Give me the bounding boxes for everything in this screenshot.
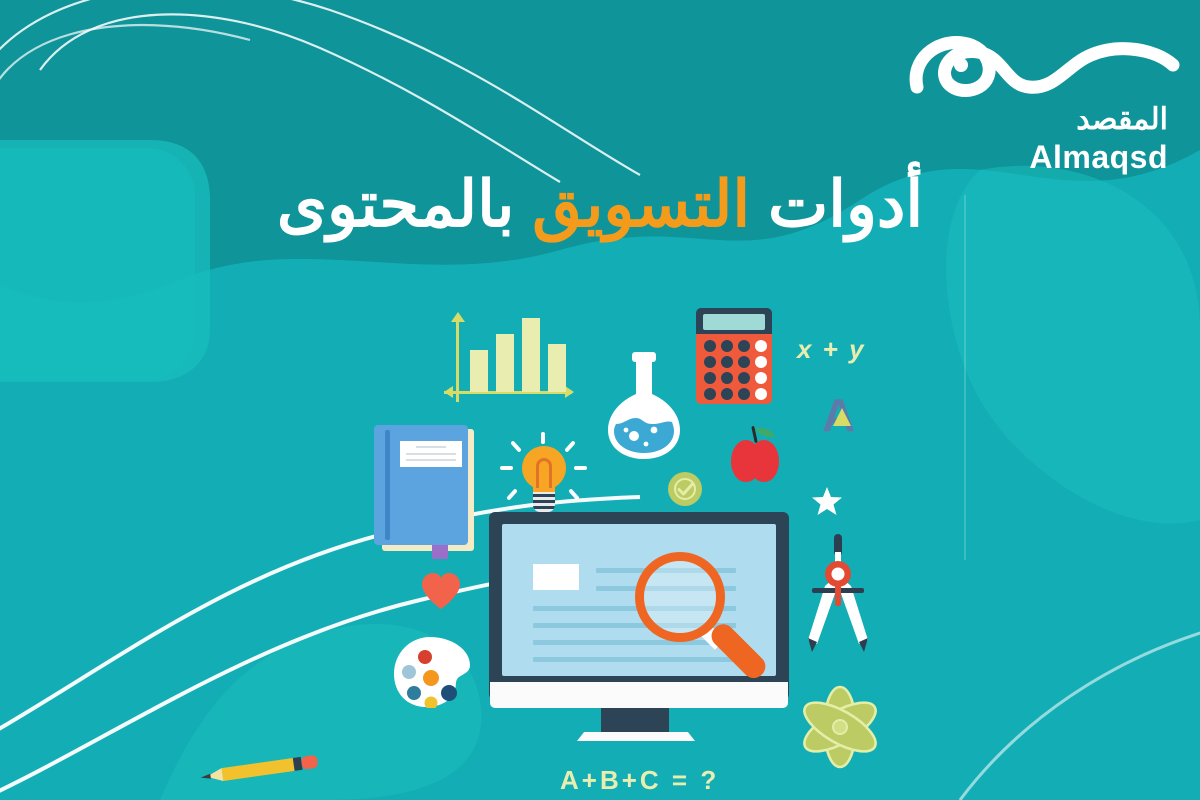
- calculator-key: [721, 356, 733, 368]
- bulb-base-stripe: [533, 506, 555, 509]
- bulb-base-stripe: [533, 500, 555, 503]
- book-icon: [374, 425, 474, 553]
- bulb-filament: [536, 458, 552, 488]
- chart-arrow-up-icon: [451, 312, 465, 322]
- magnifier-icon: [635, 552, 765, 712]
- calculator-key: [721, 340, 733, 352]
- calculator-key: [704, 340, 716, 352]
- bulb-ray: [564, 440, 576, 452]
- bulb-ray: [500, 466, 513, 470]
- flask-icon: [602, 352, 686, 460]
- monitor-foot: [577, 732, 695, 741]
- calculator-keypad: [696, 334, 772, 404]
- equation-text: A+B+C = ?: [560, 765, 719, 796]
- book-label-line: [416, 446, 446, 448]
- letter-a-triangle: [833, 408, 851, 426]
- palette-icon: [392, 636, 474, 708]
- book-label-line: [406, 453, 456, 455]
- palette-svg: [392, 636, 474, 708]
- calculator-key: [755, 372, 767, 384]
- monitor-neck: [601, 708, 669, 736]
- pencil-svg: [196, 752, 320, 786]
- algebra-text: x + y: [797, 334, 866, 365]
- logo-wave-mark-icon: [905, 25, 1180, 105]
- screen-image-block: [533, 564, 579, 590]
- magnifier-handle: [707, 620, 770, 683]
- banner-canvas: المقصد Almaqsd أدوات التسويق بالمحتوى: [0, 0, 1200, 800]
- calculator-key: [704, 372, 716, 384]
- book-label-line: [406, 459, 456, 461]
- almaqsd-logo[interactable]: المقصد Almaqsd: [905, 25, 1180, 170]
- calculator-key: [738, 340, 750, 352]
- book-spine: [385, 430, 390, 540]
- bulb-ray: [568, 488, 580, 500]
- book-cover: [374, 425, 468, 545]
- calculator-key: [704, 356, 716, 368]
- bulb-ray: [574, 466, 587, 470]
- calculator-key: [755, 388, 767, 400]
- flask-svg: [602, 352, 686, 460]
- chart-bar: [470, 350, 488, 392]
- chart-arrow-right-icon: [565, 386, 574, 398]
- book-bookmark: [432, 543, 448, 559]
- book-label: [400, 441, 462, 467]
- bulb-ray: [510, 440, 522, 452]
- chart-arrow-left-icon: [444, 386, 453, 398]
- apple-icon: [728, 424, 782, 484]
- check-mark-icon: [668, 472, 702, 506]
- chart-bar: [522, 318, 540, 392]
- atom-icon: [797, 684, 883, 770]
- calculator-display: [703, 314, 765, 330]
- calculator-key: [738, 388, 750, 400]
- bulb-base-stripe: [533, 494, 555, 497]
- heart-svg: [421, 572, 461, 610]
- calculator-key: [721, 372, 733, 384]
- calculator-key: [738, 372, 750, 384]
- heart-icon: [421, 572, 461, 610]
- bar-chart-icon: [444, 312, 574, 406]
- headline-part-accent: التسويق: [532, 168, 750, 240]
- page-title: أدوات التسويق بالمحتوى: [0, 168, 1200, 242]
- logo-arabic-name: المقصد: [1076, 105, 1168, 135]
- atom-svg: [797, 684, 883, 770]
- magnifier-lens: [635, 552, 725, 642]
- bulb-base: [533, 492, 555, 512]
- apple-body-right: [749, 440, 779, 482]
- chart-bar: [548, 344, 566, 392]
- check-badge-icon: [668, 472, 702, 506]
- compass-svg: [803, 534, 873, 652]
- chart-axis-vertical: [456, 316, 459, 402]
- calculator-top: [696, 308, 772, 336]
- star-icon: [812, 486, 842, 516]
- calculator-key: [704, 388, 716, 400]
- apple-leaf: [756, 426, 774, 439]
- calculator-key: [755, 356, 767, 368]
- calculator-icon: [696, 308, 772, 404]
- calculator-key: [721, 388, 733, 400]
- bulb-ray: [541, 432, 545, 444]
- chart-bar: [496, 334, 514, 392]
- calculator-key: [755, 340, 767, 352]
- headline-part-3: بالمحتوى: [277, 168, 515, 240]
- bulb-ray: [506, 488, 518, 500]
- calculator-key: [738, 356, 750, 368]
- letter-a-icon: A: [822, 392, 862, 440]
- headline-part-1: أدوات: [768, 168, 923, 240]
- star-svg: [812, 486, 842, 516]
- pencil-icon: [196, 752, 320, 786]
- compass-icon: [803, 534, 873, 652]
